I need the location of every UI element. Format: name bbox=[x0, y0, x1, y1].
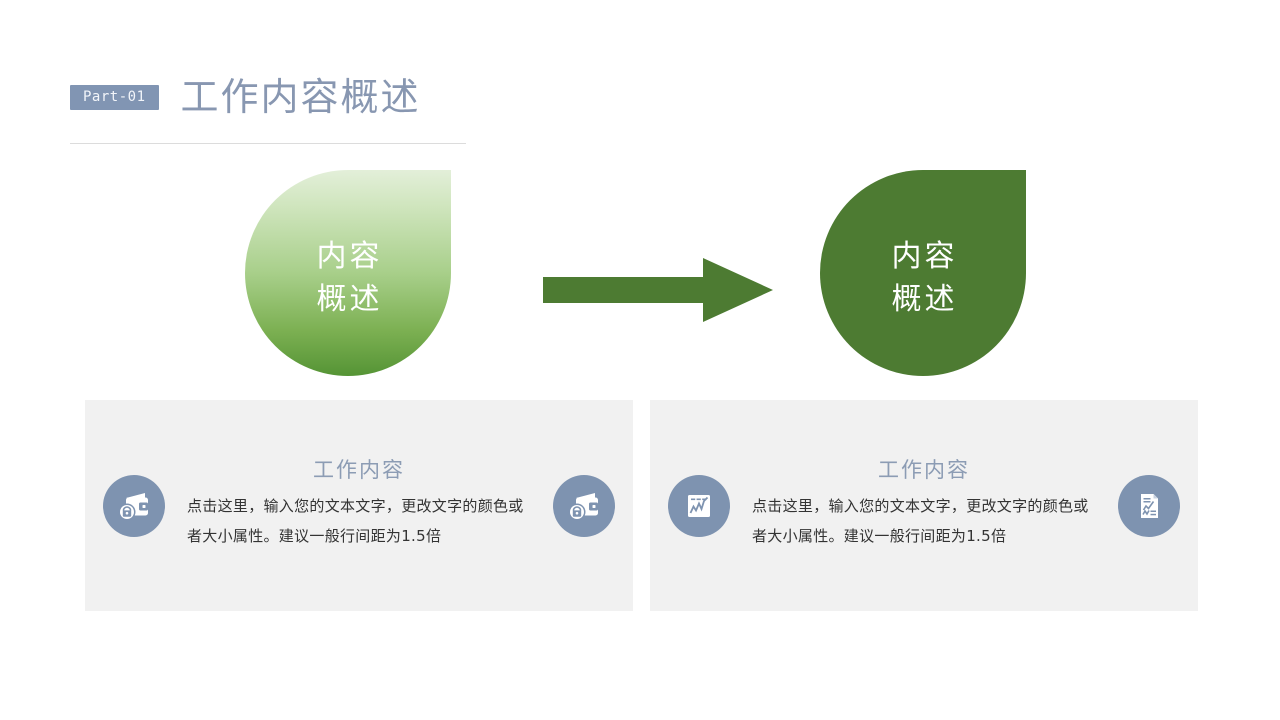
document-chart-icon bbox=[1118, 475, 1180, 537]
chart-window-icon bbox=[668, 475, 730, 537]
right-arrow-svg bbox=[543, 258, 773, 322]
document-chart-glyph bbox=[1131, 488, 1167, 524]
wallet-lock-glyph bbox=[565, 487, 603, 525]
slide-header: Part-01 工作内容概述 bbox=[70, 72, 470, 142]
content-panel-right: 工作内容 点击这里，输入您的文本文字，更改文字的颜色或者大小属性。建议一般行间距… bbox=[650, 400, 1198, 611]
right-arrow-icon bbox=[543, 258, 773, 322]
wallet-lock-glyph bbox=[115, 487, 153, 525]
teardrop-left-line1: 内容 bbox=[314, 236, 383, 279]
wallet-lock-icon bbox=[553, 475, 615, 537]
panel-left-text: 点击这里，输入您的文本文字，更改文字的颜色或者大小属性。建议一般行间距为1.5倍 bbox=[187, 491, 531, 551]
header-row: Part-01 工作内容概述 bbox=[70, 72, 470, 122]
wallet-lock-icon bbox=[103, 475, 165, 537]
page-title: 工作内容概述 bbox=[181, 78, 421, 116]
panel-right-text: 点击这里，输入您的文本文字，更改文字的颜色或者大小属性。建议一般行间距为1.5倍 bbox=[752, 491, 1096, 551]
teardrop-shape-right: 内容 概述 bbox=[820, 170, 1026, 376]
teardrop-left-line2: 概述 bbox=[314, 279, 383, 322]
panel-left-heading: 工作内容 bbox=[313, 460, 405, 481]
teardrop-shape-left: 内容 概述 bbox=[245, 170, 451, 376]
header-divider bbox=[70, 143, 466, 144]
teardrop-right-line1: 内容 bbox=[889, 236, 958, 279]
part-badge: Part-01 bbox=[70, 85, 159, 110]
panel-right-heading: 工作内容 bbox=[878, 460, 970, 481]
panel-left-body: 工作内容 点击这里，输入您的文本文字，更改文字的颜色或者大小属性。建议一般行间距… bbox=[165, 460, 553, 551]
teardrop-right-line2: 概述 bbox=[889, 279, 958, 322]
content-panel-left: 工作内容 点击这里，输入您的文本文字，更改文字的颜色或者大小属性。建议一般行间距… bbox=[85, 400, 633, 611]
chart-window-glyph bbox=[681, 488, 717, 524]
panel-right-body: 工作内容 点击这里，输入您的文本文字，更改文字的颜色或者大小属性。建议一般行间距… bbox=[730, 460, 1118, 551]
